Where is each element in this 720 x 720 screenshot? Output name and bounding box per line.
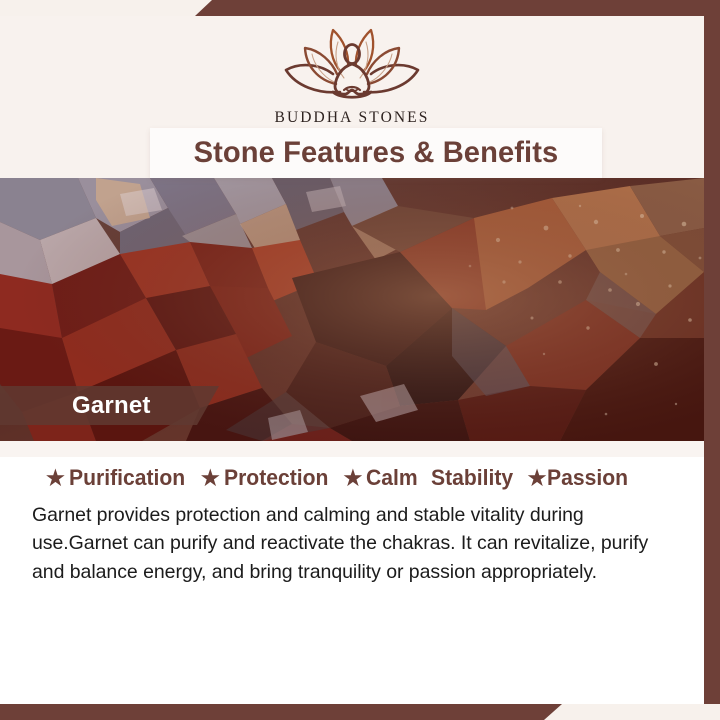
- brand-logo: BUDDHA STONES: [0, 22, 704, 127]
- benefit-item-passion: ★ Passion: [528, 465, 631, 491]
- brand-name: BUDDHA STONES: [275, 109, 430, 127]
- page-title: Stone Features & Benefits: [194, 136, 559, 170]
- star-icon: ★: [201, 468, 220, 489]
- stone-features-poster: BUDDHA STONES Stone Features & Benefits: [0, 0, 720, 720]
- benefit-label: Protection: [224, 465, 328, 491]
- lotus-meditation-figure-icon: [278, 22, 426, 108]
- frame-top-bar: [195, 0, 720, 16]
- poster-card: BUDDHA STONES Stone Features & Benefits: [0, 16, 704, 704]
- body-top-fade: [0, 441, 704, 457]
- title-banner: Stone Features & Benefits: [150, 128, 602, 178]
- benefit-item-protection: ★ Protection: [201, 465, 333, 491]
- stone-description: Garnet provides protection and calming a…: [32, 501, 680, 586]
- benefit-item-stability: Stability: [431, 465, 517, 491]
- star-icon: ★: [528, 468, 547, 489]
- frame-right-bar: [704, 0, 720, 704]
- garnet-crystal-cluster-photo: Garnet: [0, 178, 704, 441]
- benefits-list: ★ Purification ★ Protection ★ Calm Stabi…: [46, 465, 684, 491]
- stone-name-tag: Garnet: [0, 386, 219, 425]
- star-icon: ★: [343, 468, 362, 489]
- benefit-label: Passion: [547, 465, 628, 491]
- frame-bottom-bar: [0, 704, 562, 720]
- star-icon: ★: [46, 468, 65, 489]
- benefit-label: Stability: [431, 465, 513, 491]
- benefit-label: Purification: [69, 465, 185, 491]
- benefit-item-purification: ★ Purification: [46, 465, 190, 491]
- benefit-item-calm: ★ Calm: [343, 465, 420, 491]
- stone-info-section: ★ Purification ★ Protection ★ Calm Stabi…: [0, 441, 704, 704]
- stone-name: Garnet: [72, 392, 151, 420]
- benefit-label: Calm: [366, 465, 418, 491]
